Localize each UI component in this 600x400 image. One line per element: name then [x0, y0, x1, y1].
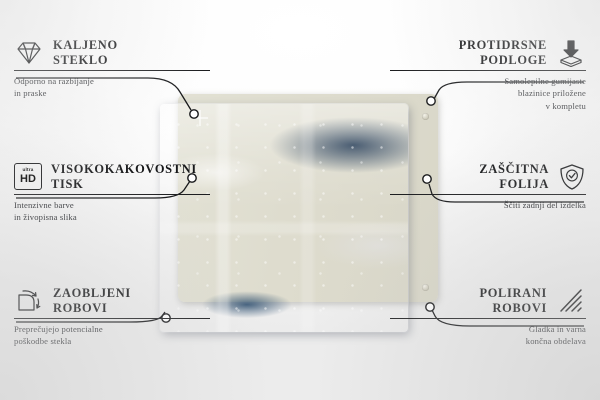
feature-title-line: STEKLO — [53, 53, 118, 68]
feature-description-line: Ščiti zadnji del izdelka — [390, 199, 586, 211]
feature-title: ZAOBLJENI ROBOVI — [53, 286, 131, 315]
hatch-triangle-icon — [556, 287, 586, 315]
feature-divider — [390, 70, 586, 71]
feature-title-line: KALJENO — [53, 38, 118, 53]
feature-anti-slip-pads: PROTIDRSNE PODLOGE Samolepilne gumijaste… — [390, 38, 586, 112]
feature-description: Intenzivne barve in živopisna slika — [14, 199, 210, 223]
feature-title: POLIRANI ROBOVI — [479, 286, 547, 315]
feature-description-line: in živopisna slika — [14, 211, 210, 223]
feature-description-line: končna obdelava — [390, 335, 586, 347]
feature-description: Ščiti zadnji del izdelka — [390, 199, 586, 211]
feature-title: PROTIDRSNE PODLOGE — [459, 38, 547, 67]
feature-title-line: TISK — [51, 177, 197, 192]
ultra-hd-icon-large-label: HD — [20, 174, 36, 185]
feature-description-line: v kompletu — [390, 100, 586, 112]
feature-description-line: Samolepilne gumijaste — [390, 75, 586, 87]
feature-description-line: blazinice priložene — [390, 87, 586, 99]
feature-header: ultra HD VISOKOKAKOVOSTNI TISK — [14, 162, 210, 191]
feature-protective-film: ZAŠČITNA FOLIJA Ščiti zadnji del izdelka — [390, 162, 586, 211]
feature-divider — [14, 318, 210, 319]
feature-title-line: ZAŠČITNA — [479, 162, 549, 177]
feature-title-line: PODLOGE — [480, 53, 547, 68]
feature-header: ZAOBLJENI ROBOVI — [14, 286, 210, 315]
feature-title: VISOKOKAKOVOSTNI TISK — [51, 162, 197, 191]
infographic-page: KALJENO STEKLO Odporno na razbijanje in … — [0, 0, 600, 400]
feature-description: Gladka in varna končna obdelava — [390, 323, 586, 347]
feature-polished-edges: POLIRANI ROBOVI Gladka in varna končna o… — [390, 286, 586, 348]
feature-divider — [390, 194, 586, 195]
feature-description-line: Gladka in varna — [390, 323, 586, 335]
shield-check-icon — [558, 163, 586, 191]
anti-slip-pad — [422, 113, 429, 120]
feature-description-line: in praske — [14, 87, 210, 99]
feature-description: Odporno na razbijanje in praske — [14, 75, 210, 99]
feature-divider — [14, 70, 210, 71]
feature-description-line: Odporno na razbijanje — [14, 75, 210, 87]
feature-title: ZAŠČITNA FOLIJA — [479, 162, 549, 191]
feature-high-quality-print: ultra HD VISOKOKAKOVOSTNI TISK Intenzivn… — [14, 162, 210, 224]
feature-rounded-edges: ZAOBLJENI ROBOVI Preprečujejo potencialn… — [14, 286, 210, 348]
rounded-corner-icon — [14, 287, 44, 315]
feature-header: ZAŠČITNA FOLIJA — [390, 162, 586, 191]
press-pad-icon — [556, 39, 586, 67]
feature-title-line: FOLIJA — [499, 177, 549, 192]
ultra-hd-icon: ultra HD — [14, 163, 42, 190]
feature-header: POLIRANI ROBOVI — [390, 286, 586, 315]
feature-tempered-glass: KALJENO STEKLO Odporno na razbijanje in … — [14, 38, 210, 100]
feature-title-line: VISOKOKAKOVOSTNI — [51, 162, 197, 177]
feature-title-line: PROTIDRSNE — [459, 38, 547, 53]
diamond-icon — [14, 40, 44, 66]
feature-title: KALJENO STEKLO — [53, 38, 118, 67]
glass-glint-icon — [192, 110, 208, 126]
feature-divider — [14, 194, 210, 195]
feature-description-line: Preprečujejo potencialne — [14, 323, 210, 335]
feature-description: Preprečujejo potencialne poškodbe stekla — [14, 323, 210, 347]
feature-title-line: POLIRANI — [479, 286, 547, 301]
feature-title-line: ZAOBLJENI — [53, 286, 131, 301]
feature-header: PROTIDRSNE PODLOGE — [390, 38, 586, 67]
feature-description-line: poškodbe stekla — [14, 335, 210, 347]
feature-description-line: Intenzivne barve — [14, 199, 210, 211]
feature-header: KALJENO STEKLO — [14, 38, 210, 67]
feature-description: Samolepilne gumijaste blazinice priložen… — [390, 75, 586, 112]
feature-divider — [390, 318, 586, 319]
feature-title-line: ROBOVI — [493, 301, 547, 316]
feature-title-line: ROBOVI — [53, 301, 131, 316]
